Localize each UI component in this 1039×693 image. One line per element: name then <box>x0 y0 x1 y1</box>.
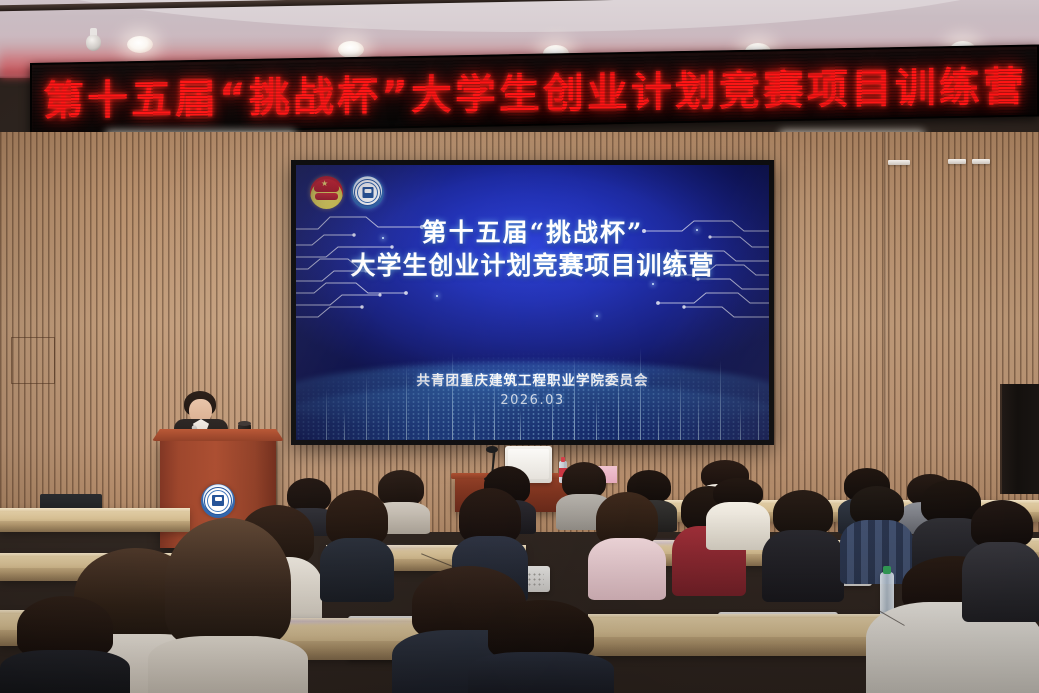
screen-vignette <box>296 165 769 440</box>
audience-person-foreground <box>468 600 614 693</box>
podium-university-seal-icon <box>201 484 235 518</box>
ceiling-vent <box>948 159 966 164</box>
photo-scene: 第十五届“挑战杯”大学生创业计划竞赛项目训练营 <box>0 0 1039 693</box>
ceiling-downlight <box>338 41 364 58</box>
audience-person-foreground <box>962 500 1039 620</box>
ceiling-vent <box>888 160 910 165</box>
audience-person <box>762 490 844 600</box>
audience-person-foreground <box>0 596 130 693</box>
dome-security-camera-icon <box>86 28 101 52</box>
audience-person <box>588 492 666 598</box>
audience-person <box>320 490 394 600</box>
audience-person <box>706 478 770 548</box>
presentation-screen[interactable]: ★ 第十五届“挑战杯” 大学生创业计划竞赛项目训练营 <box>296 165 769 440</box>
ceiling-vent <box>972 159 990 164</box>
side-doorway <box>1000 384 1039 494</box>
audience-person-foreground <box>148 518 308 693</box>
presentation-screen-frame: ★ 第十五届“挑战杯” 大学生创业计划竞赛项目训练营 <box>291 160 774 445</box>
ceiling-downlight <box>127 36 153 53</box>
wall-access-panel <box>11 337 55 384</box>
